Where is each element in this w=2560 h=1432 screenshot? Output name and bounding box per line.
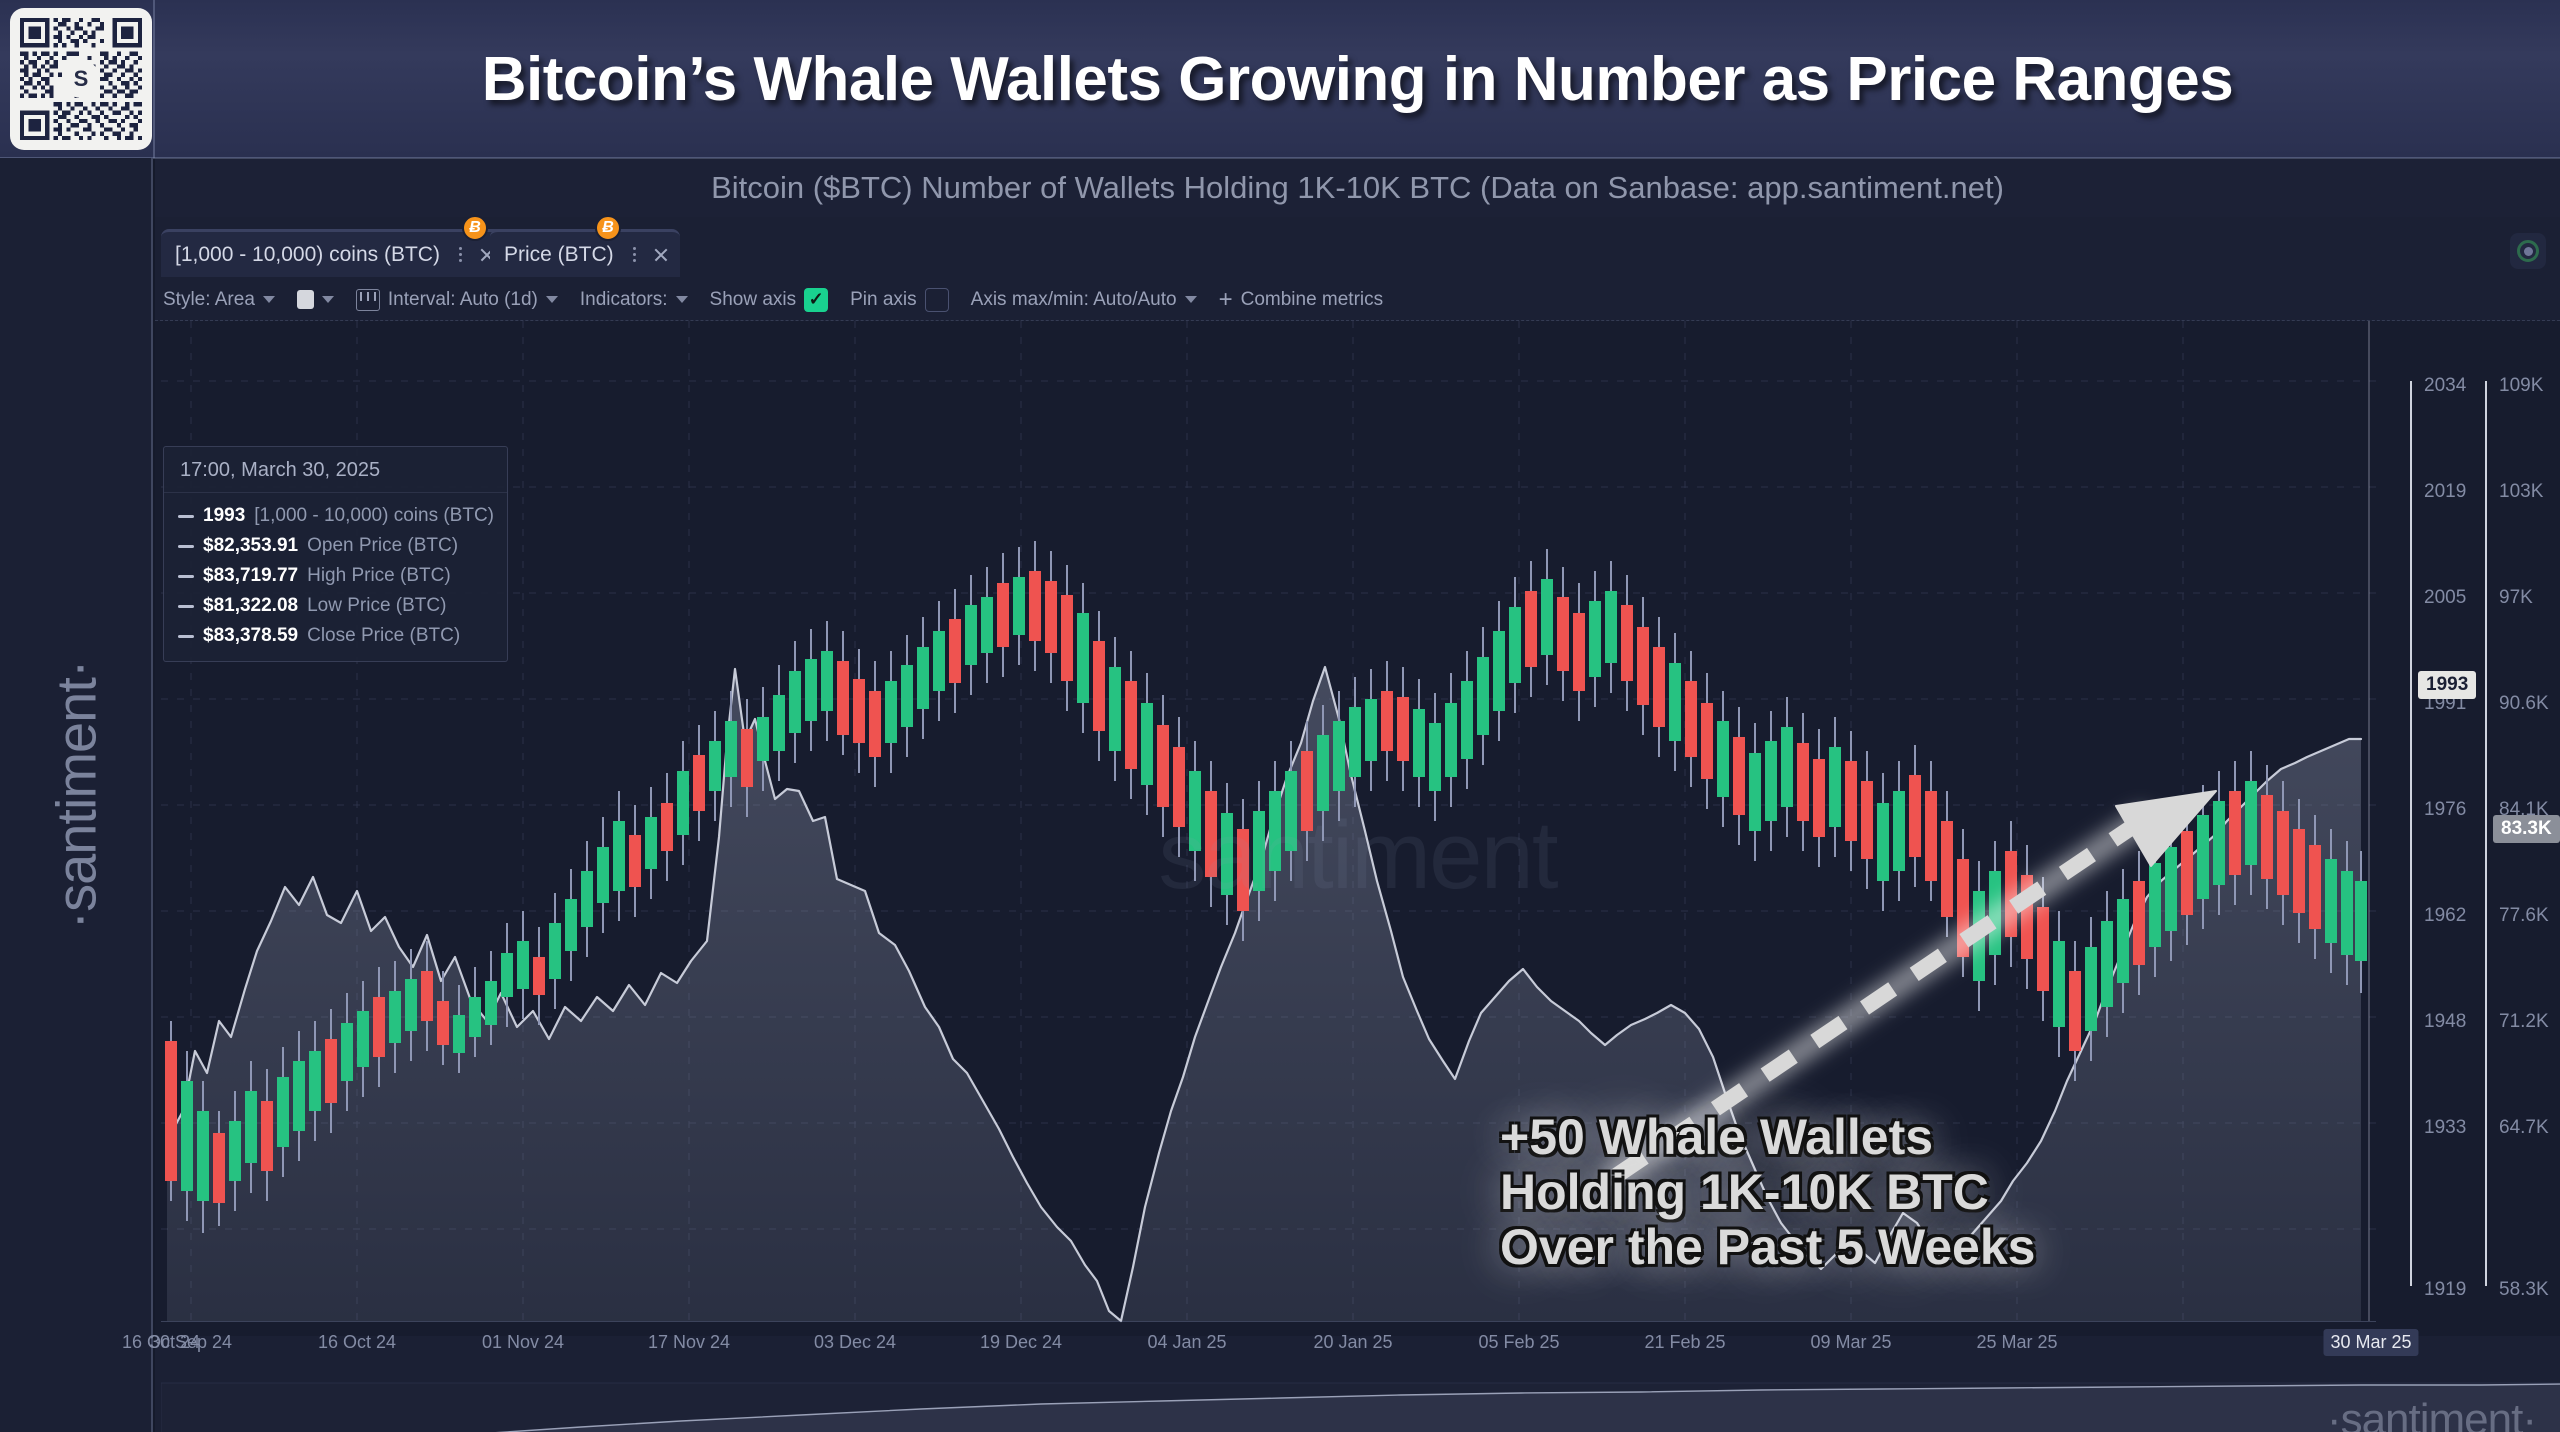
tooltip-series-name: Low Price (BTC) — [307, 595, 446, 617]
x-axis-tick: 19 Dec 24 — [980, 1332, 1062, 1353]
metric-tab-label: Price (BTC) — [504, 243, 614, 267]
combine-metrics-button[interactable]: + Combine metrics — [1219, 288, 1384, 312]
x-axis-tick: 16 Oct 24 — [122, 1332, 200, 1353]
axis-tick: 77.6K — [2499, 905, 2549, 927]
x-axis-tick: 04 Jan 25 — [1147, 1332, 1226, 1353]
annotation-line-2: Holding 1K-10K BTC — [1500, 1166, 2035, 1219]
axis-line — [2485, 381, 2487, 1286]
color-swatch-dropdown[interactable] — [297, 290, 334, 309]
interval-label: Interval: Auto (1d) — [388, 289, 538, 311]
indicators-label: Indicators: — [580, 289, 668, 311]
annotation-line-3: Over the Past 5 Weeks — [1500, 1221, 2035, 1274]
tooltip-value: $83,378.59 — [203, 625, 298, 647]
indicators-dropdown[interactable]: Indicators: — [580, 289, 688, 311]
tooltip-timestamp: 17:00, March 30, 2025 — [164, 447, 507, 493]
tooltip-row: $83,719.77 High Price (BTC) — [178, 565, 493, 587]
axis-tick: 1933 — [2424, 1117, 2466, 1139]
page-subtitle: Bitcoin ($BTC) Number of Wallets Holding… — [711, 170, 2004, 206]
axis-tick: 2005 — [2424, 587, 2466, 609]
x-axis-tick: 09 Mar 25 — [1810, 1332, 1891, 1353]
more-options-icon[interactable] — [454, 244, 468, 266]
x-axis-tick: 21 Feb 25 — [1644, 1332, 1725, 1353]
show-axis-toggle[interactable]: Show axis ✓ — [710, 288, 829, 312]
axis-tick: 58.3K — [2499, 1279, 2549, 1301]
x-axis-tick: 17 Nov 24 — [648, 1332, 730, 1353]
checkbox-checked-icon[interactable]: ✓ — [804, 288, 828, 312]
left-rail: ·santiment· — [0, 158, 153, 1432]
page-title: Bitcoin’s Whale Wallets Growing in Numbe… — [155, 0, 2560, 158]
qr-code-image: S — [10, 8, 152, 150]
santiment-logo-footer: ·santiment· — [2327, 1395, 2536, 1432]
metric-tab-price[interactable]: Price (BTC) — [490, 229, 680, 277]
axis-tick: 2034 — [2424, 375, 2466, 397]
metric-tab-label: [1,000 - 10,000) coins (BTC) — [175, 243, 440, 267]
live-status-icon[interactable] — [2510, 233, 2546, 269]
x-axis-tick: 20 Jan 25 — [1313, 1332, 1392, 1353]
interval-dropdown[interactable]: Interval: Auto (1d) — [356, 289, 558, 311]
series-marker-icon — [178, 545, 194, 548]
tooltip-value: $82,353.91 — [203, 535, 298, 557]
qr-center-logo: S — [62, 60, 100, 98]
axis-tick: 1962 — [2424, 905, 2466, 927]
screenshot-root: S Bitcoin’s Whale Wallets Growing in Num… — [0, 0, 2560, 1432]
page-header: S Bitcoin’s Whale Wallets Growing in Num… — [0, 0, 2560, 158]
axis-tick: 103K — [2499, 481, 2543, 503]
series-marker-icon — [178, 605, 194, 608]
tooltip-row: $82,353.91 Open Price (BTC) — [178, 535, 493, 557]
chevron-down-icon — [322, 296, 334, 303]
color-swatch-icon — [297, 290, 314, 309]
series-marker-icon — [178, 635, 194, 638]
axis-tick: 109K — [2499, 375, 2543, 397]
style-dropdown[interactable]: Style: Area — [163, 289, 275, 311]
x-axis-tick: 05 Feb 25 — [1478, 1332, 1559, 1353]
live-ring-icon — [2517, 240, 2539, 262]
navigator-svg — [161, 1377, 2560, 1432]
crosshair-value-badge-price: 83.3K — [2493, 815, 2560, 843]
axis-wallets[interactable]: 2034 2019 2005 1991 1976 1962 1948 1933 … — [2410, 321, 2488, 1336]
chevron-down-icon — [676, 296, 688, 303]
tooltip-series-name: [1,000 - 10,000) coins (BTC) — [254, 505, 494, 527]
more-options-icon[interactable] — [628, 244, 642, 266]
axis-tick: 1976 — [2424, 799, 2466, 821]
x-axis-tick: 01 Nov 24 — [482, 1332, 564, 1353]
range-navigator[interactable]: ·santiment· — [161, 1377, 2560, 1432]
qr-code[interactable]: S — [10, 8, 152, 150]
metric-tab-row: [1,000 - 10,000) coins (BTC) Ƀ Price (BT… — [155, 217, 2560, 279]
plus-icon: + — [1219, 288, 1233, 312]
close-icon[interactable] — [650, 244, 672, 266]
interval-icon — [356, 289, 380, 311]
bitcoin-icon: Ƀ — [462, 215, 488, 241]
crosshair-value-badge-wallets: 1993 — [2418, 671, 2476, 699]
tooltip-series-name: Close Price (BTC) — [307, 625, 460, 647]
axis-tick: 1948 — [2424, 1011, 2466, 1033]
chevron-down-icon — [1185, 296, 1197, 303]
show-axis-label: Show axis — [710, 289, 797, 311]
annotation-line-1: +50 Whale Wallets — [1500, 1111, 2035, 1164]
subtitle-bar: Bitcoin ($BTC) Number of Wallets Holding… — [155, 159, 2560, 217]
santiment-watermark-center: santiment — [1158, 801, 1556, 911]
axis-tick: 64.7K — [2499, 1117, 2549, 1139]
chart-app-body: [1,000 - 10,000) coins (BTC) Ƀ Price (BT… — [155, 217, 2560, 1432]
axis-tick: 97K — [2499, 587, 2533, 609]
tooltip-series-name: High Price (BTC) — [307, 565, 451, 587]
style-label: Style: Area — [163, 289, 255, 311]
chart-canvas[interactable]: santiment — [155, 321, 2560, 1336]
x-axis-tick: 16 Oct 24 — [318, 1332, 396, 1353]
chevron-down-icon — [263, 296, 275, 303]
axis-tick: 90.6K — [2499, 693, 2549, 715]
tooltip-value: $83,719.77 — [203, 565, 298, 587]
axis-price[interactable]: 109K 103K 97K 90.6K 84.1K 77.6K 71.2K 64… — [2485, 321, 2560, 1336]
chevron-down-icon — [546, 296, 558, 303]
overlay-annotation: +50 Whale Wallets Holding 1K-10K BTC Ove… — [1500, 1111, 2035, 1276]
axis-tick: 2019 — [2424, 481, 2466, 503]
pin-axis-toggle[interactable]: Pin axis — [850, 288, 949, 312]
bitcoin-icon: Ƀ — [595, 215, 621, 241]
tooltip-row: $83,378.59 Close Price (BTC) — [178, 625, 493, 647]
live-core-icon — [2524, 247, 2533, 256]
tooltip-row: 1993 [1,000 - 10,000) coins (BTC) — [178, 505, 493, 527]
axis-tick: 71.2K — [2499, 1011, 2549, 1033]
pin-axis-label: Pin axis — [850, 289, 917, 311]
axis-x[interactable]: 30 Sep 24 16 Oct 24 16 Oct 24 01 Nov 24 … — [161, 1321, 2376, 1361]
tooltip-row: $81,322.08 Low Price (BTC) — [178, 595, 493, 617]
axis-minmax-dropdown[interactable]: Axis max/min: Auto/Auto — [971, 289, 1197, 311]
axis-tick: 1919 — [2424, 1279, 2466, 1301]
chart-tooltip: 17:00, March 30, 2025 1993 [1,000 - 10,0… — [163, 446, 508, 662]
x-axis-tick: 03 Dec 24 — [814, 1332, 896, 1353]
axis-minmax-label: Axis max/min: Auto/Auto — [971, 289, 1177, 311]
x-axis-tick: 25 Mar 25 — [1976, 1332, 2057, 1353]
combine-metrics-label: Combine metrics — [1241, 289, 1384, 311]
tooltip-rows: 1993 [1,000 - 10,000) coins (BTC) $82,35… — [164, 493, 507, 661]
axis-line — [2410, 381, 2412, 1286]
tooltip-series-name: Open Price (BTC) — [307, 535, 458, 557]
crosshair-date-badge: 30 Mar 25 — [2323, 1329, 2418, 1356]
metric-tab-wallets[interactable]: [1,000 - 10,000) coins (BTC) — [161, 229, 506, 277]
tooltip-value: $81,322.08 — [203, 595, 298, 617]
santiment-watermark-vertical: ·santiment· — [43, 660, 108, 929]
checkbox-unchecked-icon[interactable] — [925, 288, 949, 312]
series-marker-icon — [178, 515, 194, 518]
tooltip-value: 1993 — [203, 505, 245, 527]
chart-toolbar: Style: Area Interval: Auto (1d) Indicato… — [155, 279, 2560, 321]
series-marker-icon — [178, 575, 194, 578]
